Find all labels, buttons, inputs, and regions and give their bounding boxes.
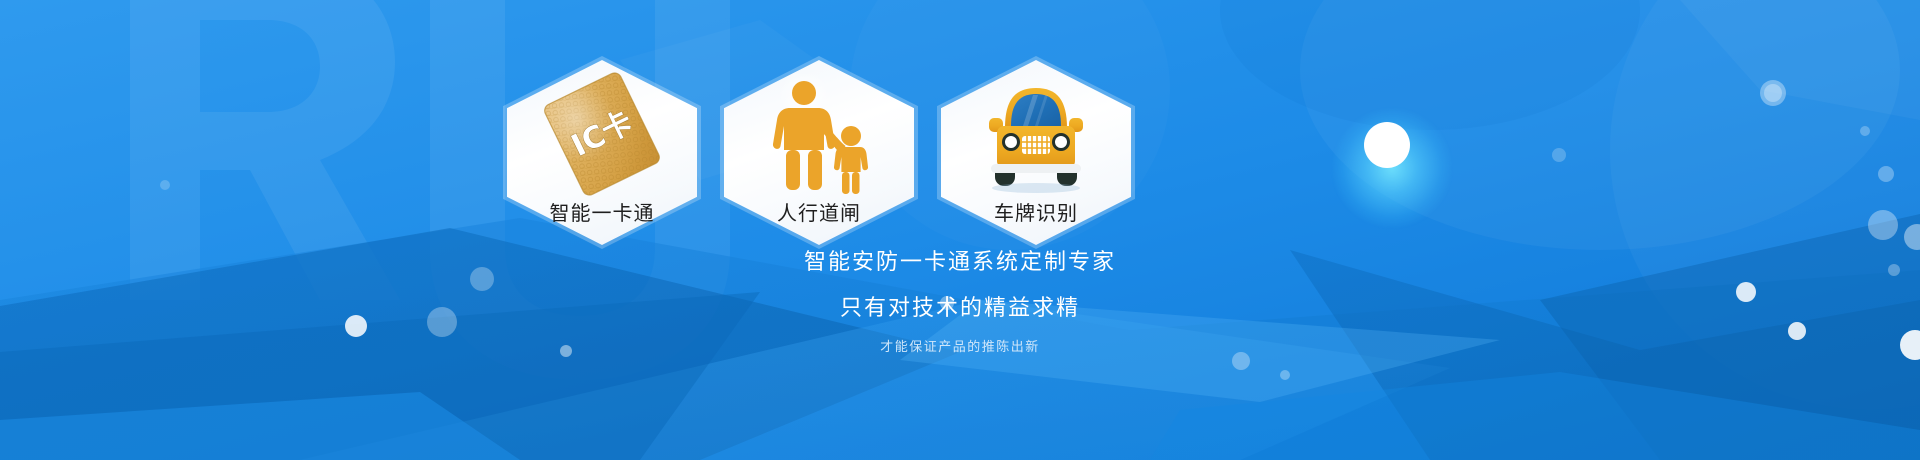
child-figure bbox=[832, 126, 868, 194]
tagline-block: 智能安防一卡通系统定制专家 只有对技术的精益求精 才能保证产品的推陈出新 bbox=[0, 248, 1920, 358]
feature-card-label: 人行道闸 bbox=[724, 200, 914, 226]
feature-card-smart-card[interactable]: IC卡 智能一卡通 bbox=[507, 60, 697, 245]
promo-banner: IC卡 智能一卡通 bbox=[0, 0, 1920, 460]
tagline-secondary: 只有对技术的精益求精 bbox=[0, 294, 1920, 324]
feature-card-pedestrian-gate[interactable]: 人行道闸 bbox=[724, 60, 914, 245]
feature-card-label: 智能一卡通 bbox=[507, 200, 697, 226]
feature-card-plate-recognition[interactable]: 车牌识别 bbox=[941, 60, 1131, 245]
feature-card-label: 车牌识别 bbox=[941, 200, 1131, 226]
adult-and-child-icon bbox=[724, 68, 914, 200]
ic-card-icon: IC卡 bbox=[507, 68, 697, 200]
tagline-tertiary: 才能保证产品的推陈出新 bbox=[0, 338, 1920, 358]
tagline-primary: 智能安防一卡通系统定制专家 bbox=[0, 248, 1920, 278]
car-front-icon bbox=[941, 68, 1131, 200]
feature-cards: IC卡 智能一卡通 bbox=[0, 0, 1920, 460]
grille bbox=[1022, 136, 1050, 154]
bumper bbox=[991, 164, 1081, 173]
